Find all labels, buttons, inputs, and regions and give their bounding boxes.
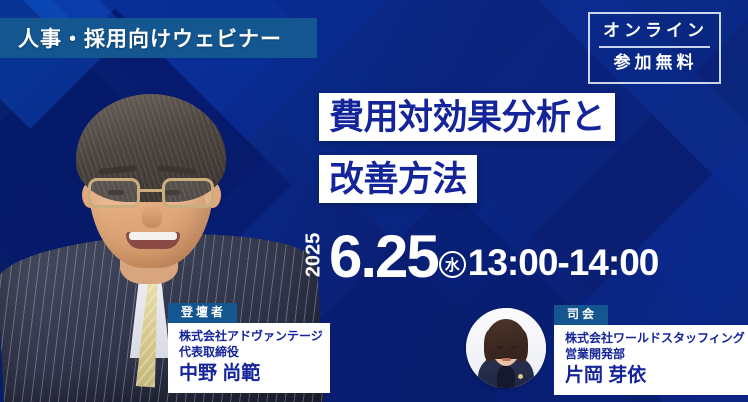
speaker-organization: 株式会社アドヴァンテージ — [179, 329, 319, 345]
mc-organization: 株式会社ワールドスタッフィング — [565, 331, 739, 347]
mc-details: 株式会社ワールドスタッフィング 営業開発部 片岡 芽依 — [554, 325, 748, 394]
mc-department: 営業開発部 — [565, 347, 739, 363]
mc-role-label: 司会 — [554, 305, 608, 325]
mc-info-card: 司会 株式会社ワールドスタッフィング 営業開発部 片岡 芽依 — [554, 305, 748, 395]
event-month-day: 6.25 — [329, 229, 438, 284]
event-year-wrap: 2025 — [302, 226, 326, 284]
mc-name: 片岡 芽依 — [565, 364, 739, 388]
webinar-banner: 人事・採用向けウェビナー オンライン 参加無料 費用対効果分析と 改善方法 20… — [0, 0, 748, 402]
speaker-info-card: 登壇者 株式会社アドヴァンテージ 代表取締役 中野 尚範 — [168, 303, 330, 393]
event-day-of-week: 水 — [439, 251, 466, 278]
mc-avatar — [466, 308, 546, 388]
title-line-1-box: 費用対効果分析と — [319, 93, 615, 141]
title-line-1-text: 費用対効果分析と — [329, 100, 605, 135]
category-ribbon: 人事・採用向けウェビナー — [0, 18, 317, 58]
event-time: 13:00-14:00 — [468, 244, 659, 281]
badge-line-free: 参加無料 — [599, 51, 710, 75]
event-year: 2025 — [303, 233, 326, 278]
badge-divider — [599, 46, 710, 48]
speaker-role-label: 登壇者 — [168, 303, 237, 323]
speaker-department: 代表取締役 — [179, 345, 319, 361]
event-datetime: 2025 6.25 水 13:00-14:00 — [302, 222, 658, 284]
badge-line-online: オンライン — [599, 19, 710, 43]
title-line-2-box: 改善方法 — [319, 155, 477, 203]
speaker-name: 中野 尚範 — [179, 362, 319, 386]
speaker-details: 株式会社アドヴァンテージ 代表取締役 中野 尚範 — [168, 323, 330, 392]
title-line-2-text: 改善方法 — [329, 162, 467, 197]
mc-info-block: 司会 株式会社ワールドスタッフィング 営業開発部 片岡 芽依 — [466, 305, 748, 395]
online-free-badge: オンライン 参加無料 — [588, 12, 721, 84]
eyeglasses-icon — [86, 178, 216, 208]
category-ribbon-label: 人事・採用向けウェビナー — [18, 23, 282, 53]
